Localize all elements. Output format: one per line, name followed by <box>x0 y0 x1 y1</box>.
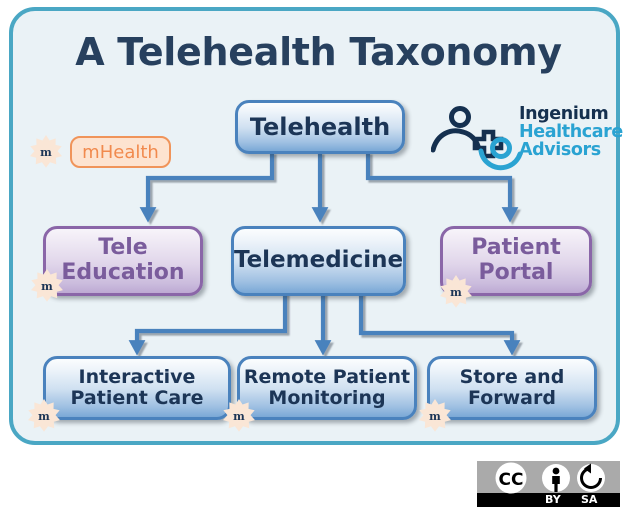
creative-commons-badge[interactable]: CC BY SA <box>477 461 620 507</box>
mbadge-tele-education: m <box>30 269 64 303</box>
mbadge-store-and-forward: m <box>418 399 452 433</box>
logo-line-1: Ingenium <box>519 105 623 123</box>
node-tele-education[interactable]: TeleEducation <box>43 226 203 296</box>
mhealth-legend-badge: m <box>29 135 63 169</box>
mhealth-legend-label: mHealth <box>82 142 159 163</box>
node-store-and-forward-label: Store andForward <box>460 367 565 410</box>
page-title: A Telehealth Taxonomy <box>13 30 624 74</box>
node-telemedicine-label: Telemedicine <box>234 248 403 274</box>
edge-telemedicine-interactive-patient-care <box>137 292 285 348</box>
node-tele-education-label: TeleEducation <box>61 236 184 285</box>
diagram-frame: A Telehealth Taxonomy Teleh <box>9 7 620 445</box>
mbadge-patient-portal: m <box>439 275 473 309</box>
cc-sa-label: SA <box>581 493 597 506</box>
mbadge-interactive-patient-care: m <box>27 399 61 433</box>
mhealth-legend-chip: mHealth <box>70 136 171 168</box>
mbadge-letter: m <box>429 411 441 422</box>
mbadge-letter: m <box>233 411 245 422</box>
mbadge-letter: m <box>450 287 462 298</box>
node-interactive-patient-care[interactable]: InteractivePatient Care <box>43 356 231 420</box>
node-store-and-forward[interactable]: Store andForward <box>427 356 597 420</box>
mhealth-badge-letter: m <box>40 147 52 158</box>
node-patient-portal-label: PatientPortal <box>471 236 561 285</box>
node-telehealth[interactable]: Telehealth <box>235 100 405 154</box>
cc-mark-text: CC <box>499 470 524 490</box>
mbadge-letter: m <box>38 411 50 422</box>
logo-line-2: Healthcare <box>519 123 623 141</box>
node-remote-patient-monitoring[interactable]: Remote PatientMonitoring <box>237 356 417 420</box>
node-telehealth-label: Telehealth <box>250 114 390 141</box>
node-telemedicine[interactable]: Telemedicine <box>231 226 406 296</box>
mbadge-letter: m <box>41 281 53 292</box>
company-logo: Ingenium Healthcare Advisors <box>431 101 621 176</box>
logo-line-3: Advisors <box>519 141 623 159</box>
mbadge-remote-patient-monitoring: m <box>222 399 256 433</box>
edge-telemedicine-store-and-forward <box>361 292 512 348</box>
cc-by-label: BY <box>545 493 561 506</box>
node-interactive-patient-care-label: InteractivePatient Care <box>71 367 204 410</box>
cc-badge-labels: BY SA <box>477 492 620 507</box>
two-people-medical-cross-icon <box>431 103 523 173</box>
node-remote-patient-monitoring-label: Remote PatientMonitoring <box>244 367 410 410</box>
